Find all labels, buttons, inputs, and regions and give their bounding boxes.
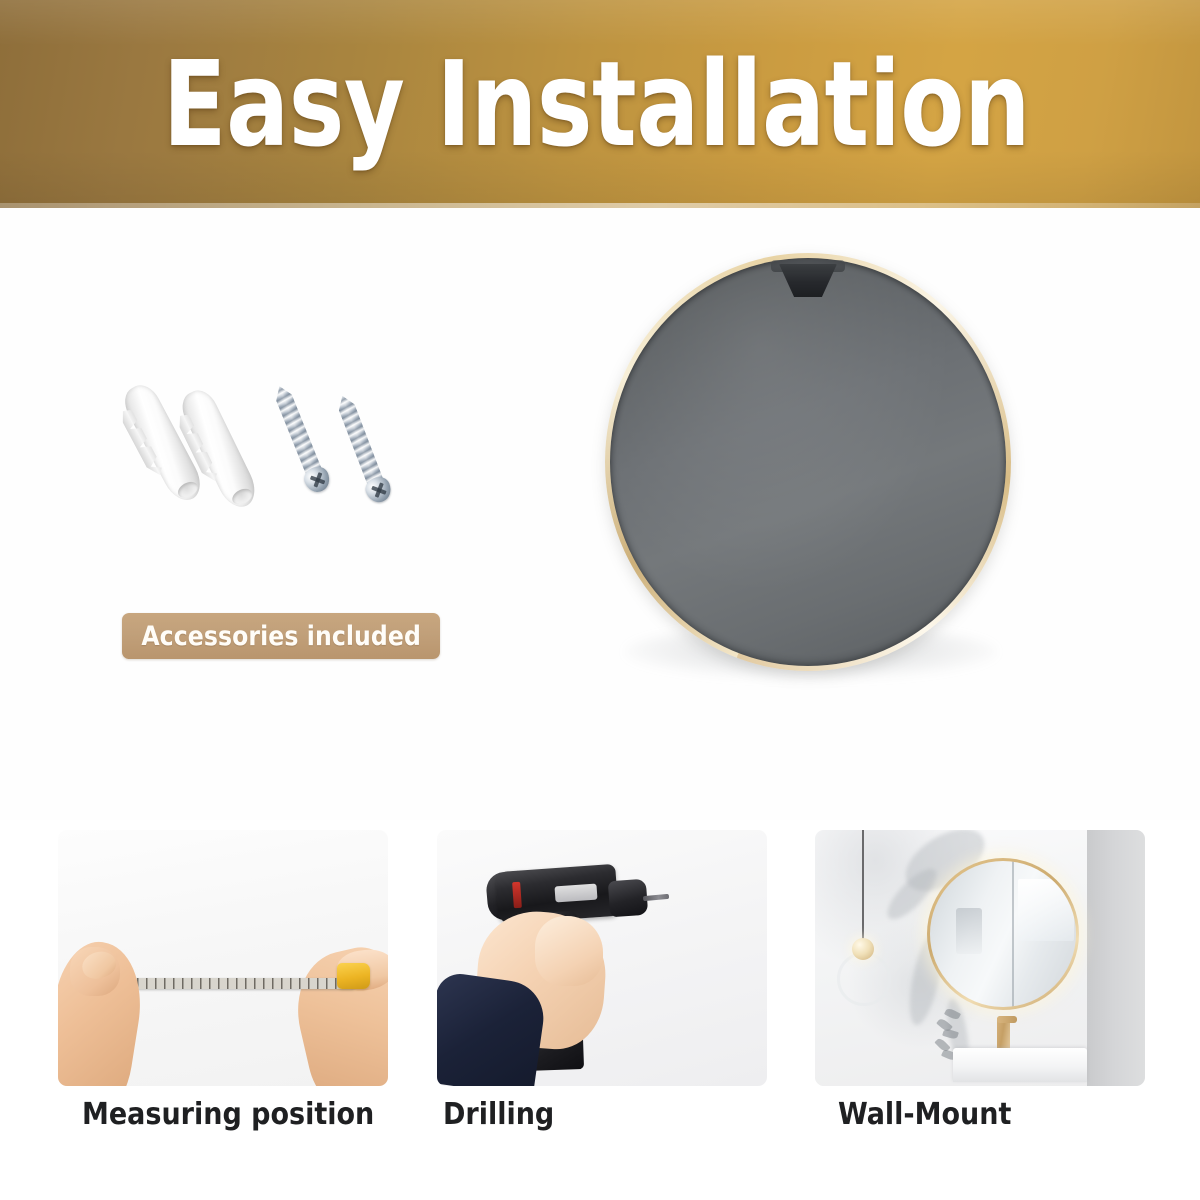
- accessories-included-badge: Accessories included: [122, 613, 440, 659]
- mirror-gold-frame: [605, 253, 1011, 671]
- mirror-wall-hook-icon: [779, 264, 837, 297]
- pendant-light-cord: [862, 830, 864, 942]
- installation-step-2: Drilling: [437, 830, 767, 1086]
- step-caption-wall-mount: Wall-Mount: [838, 1098, 1011, 1131]
- installation-steps-row: Measuring position Drilling: [0, 830, 1200, 1100]
- mounted-round-mirror-frame: [927, 858, 1079, 1010]
- wall-mount-photo: [815, 830, 1145, 1086]
- hand-knuckles: [535, 916, 603, 986]
- page-title: Easy Installation: [72, 0, 1128, 208]
- drill-light-window: [554, 884, 597, 903]
- round-mirror-product-image: [605, 253, 1011, 685]
- leaf: [942, 1028, 959, 1040]
- mirror-reflection-window: [1018, 879, 1074, 941]
- mirror-glass-surface: [610, 258, 1006, 666]
- drill-red-accent: [512, 882, 522, 908]
- tape-measure-case: [337, 963, 370, 989]
- mirror-reflection-mullion: [1012, 861, 1015, 1007]
- accessories-included-badge-label: Accessories included: [141, 623, 421, 650]
- mounted-round-mirror-glass: [930, 861, 1076, 1007]
- leaf: [944, 1007, 961, 1021]
- drilling-photo: [437, 830, 767, 1086]
- gold-faucet-spout: [997, 1016, 1017, 1023]
- header-banner: Easy Installation: [0, 0, 1200, 208]
- measuring-position-photo: [58, 830, 388, 1086]
- product-infographic-page: Easy Installation Accessories included: [0, 0, 1200, 1200]
- step-caption-measuring-position: Measuring position: [82, 1098, 374, 1131]
- bathroom-side-wall: [1087, 830, 1145, 1086]
- screw-icon: [269, 382, 335, 500]
- sink-counter: [953, 1048, 1087, 1082]
- installation-step-3: Wall-Mount: [815, 830, 1145, 1086]
- product-showcase-section: Accessories included: [0, 208, 1200, 820]
- screw-shaft: [334, 393, 384, 489]
- screw-icon: [332, 392, 396, 510]
- pendant-light-globe: [852, 938, 874, 960]
- accessories-hardware-group: [140, 368, 430, 548]
- pendant-light-halo: [837, 952, 891, 1006]
- step-caption-drilling: Drilling: [443, 1098, 554, 1131]
- mirror-reflection-shower: [956, 908, 982, 954]
- drill-bit: [643, 894, 669, 901]
- screw-shaft: [272, 383, 324, 478]
- installation-step-1: Measuring position: [58, 830, 388, 1086]
